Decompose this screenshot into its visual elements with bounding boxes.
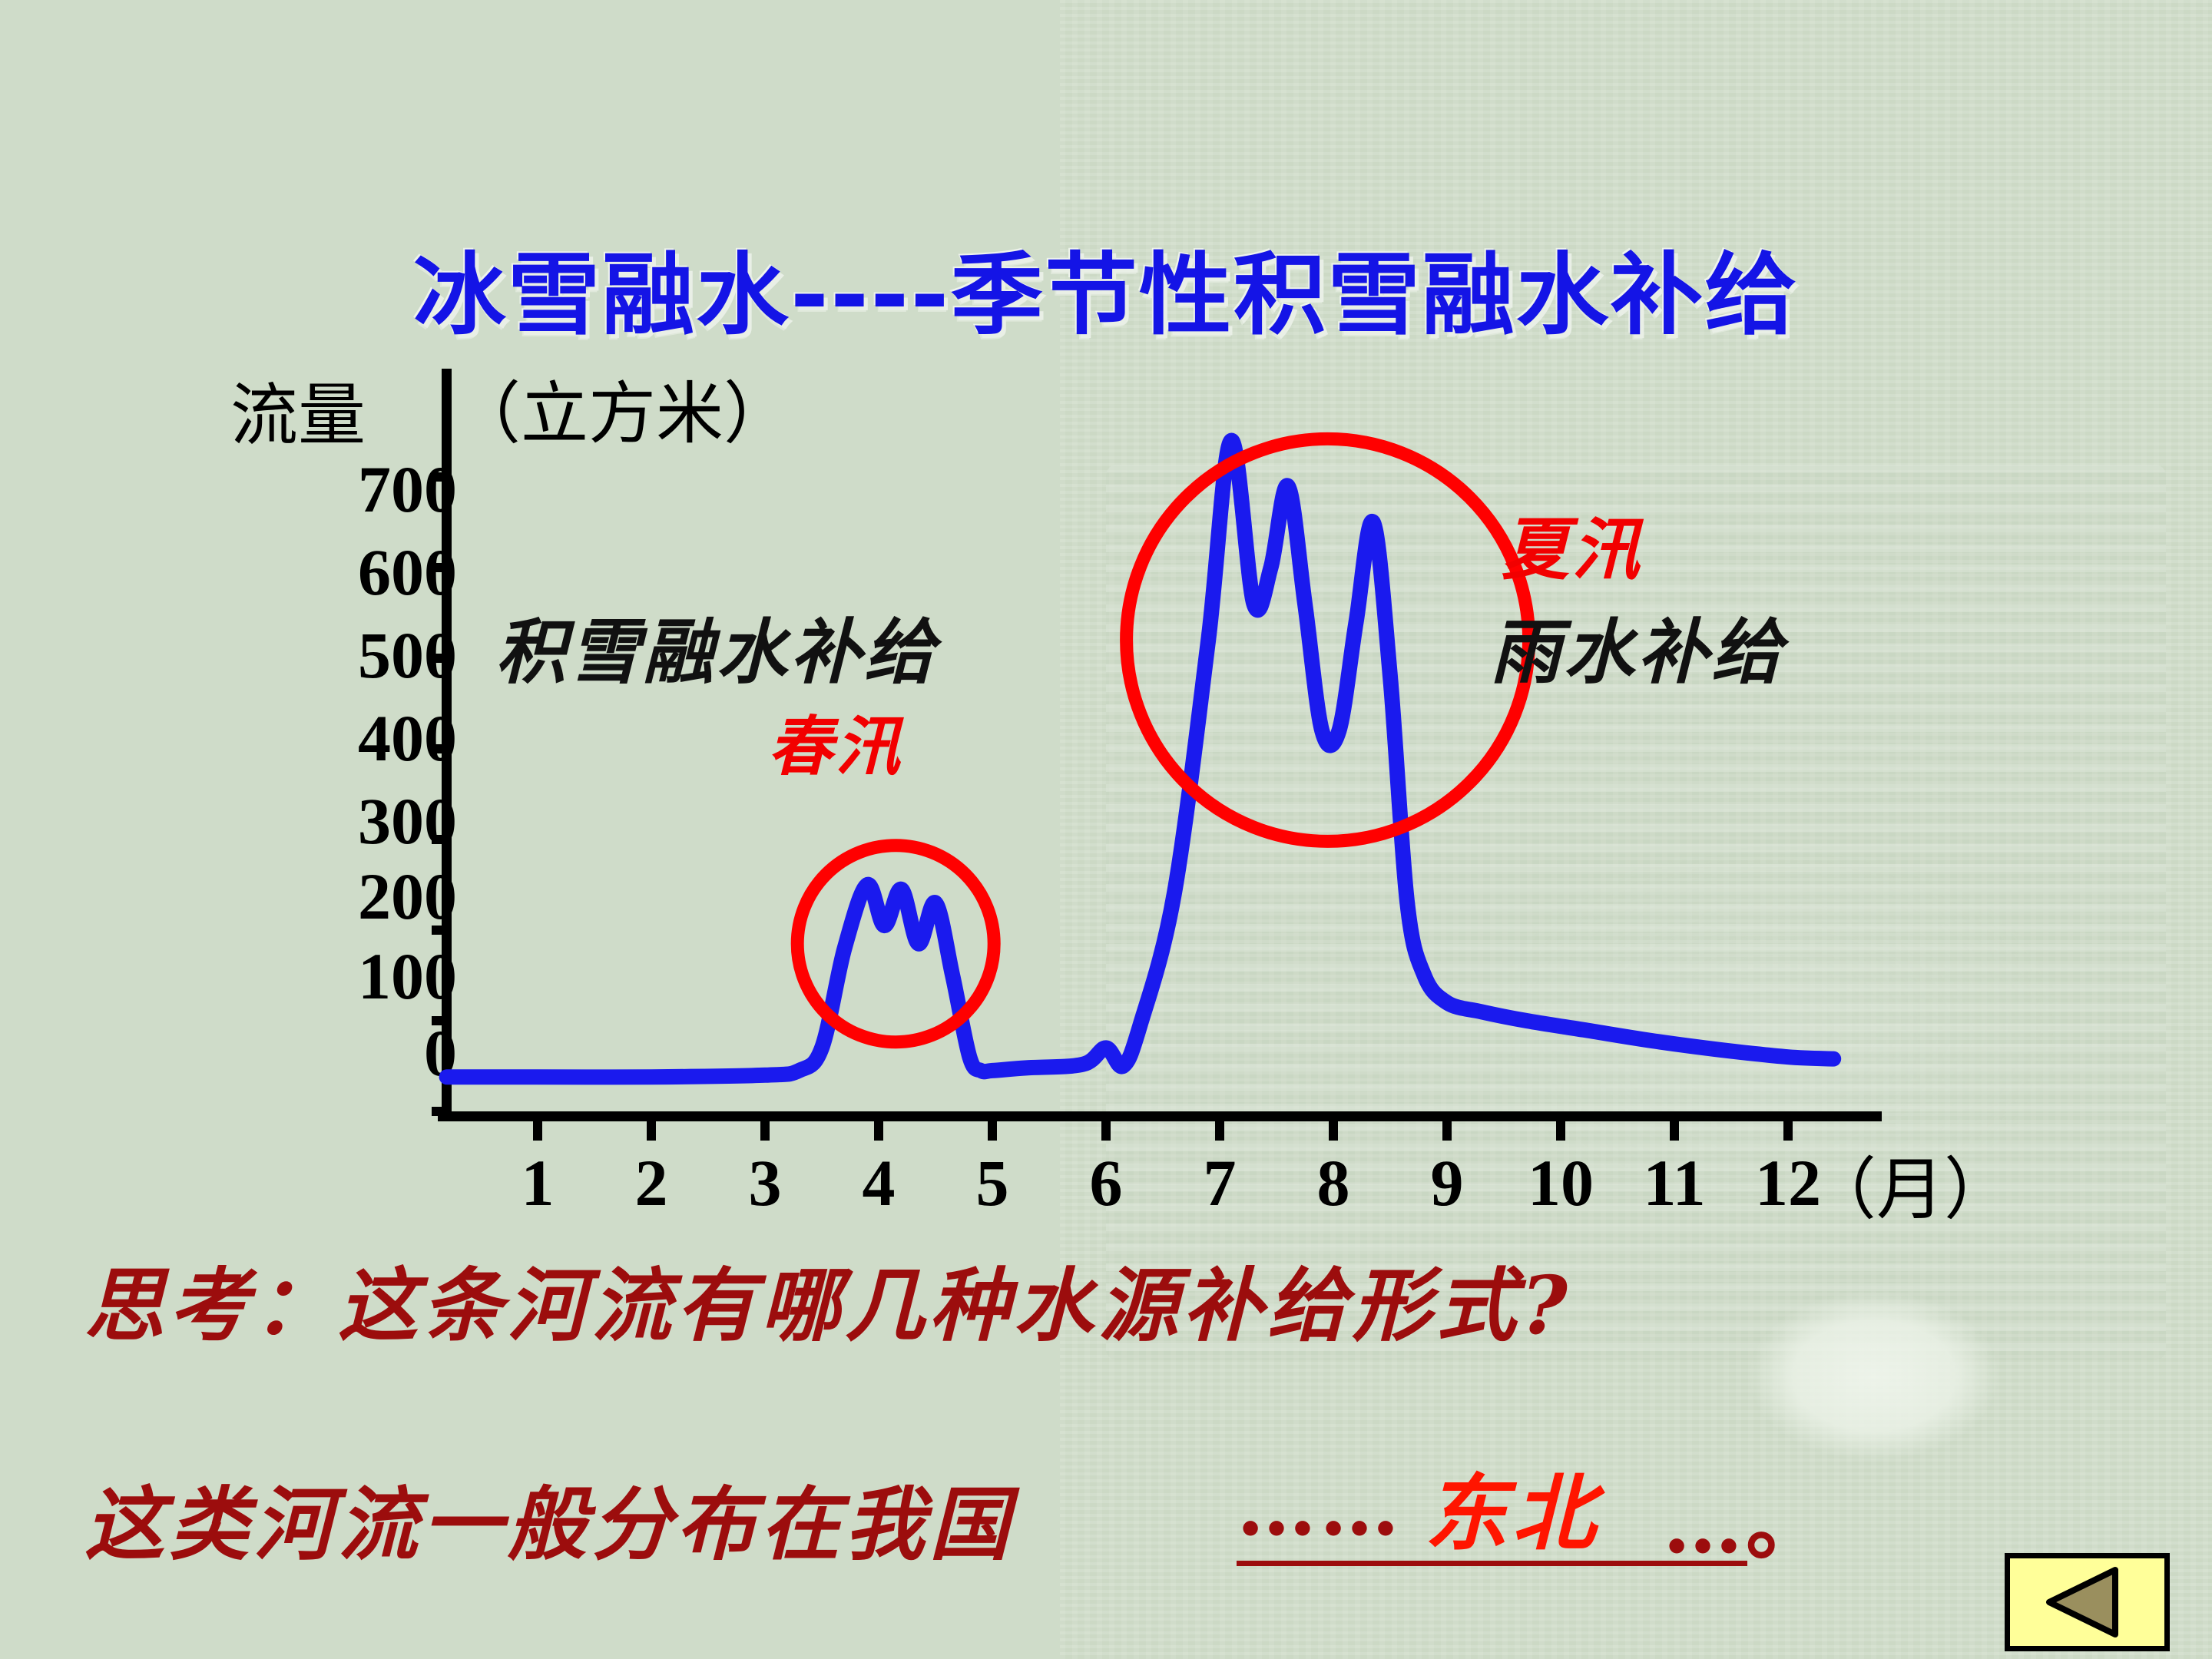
answer-line-tail: …。 — [1663, 1459, 1829, 1575]
x-tick-label-7: 7 — [1174, 1144, 1266, 1221]
y-axis-title: 流量 — [230, 361, 366, 459]
question-line: 思考：这条河流有哪几种水源补给形式? — [84, 1240, 1572, 1356]
y-tick-label-200: 200 — [134, 863, 457, 929]
y-tick-label-0: 0 — [134, 1020, 457, 1086]
x-tick-10 — [1556, 1121, 1565, 1141]
x-tick-label-3: 3 — [719, 1144, 811, 1221]
x-tick-label-6: 6 — [1060, 1144, 1152, 1221]
annotation-rain-supply: 雨水补给 — [1490, 595, 1785, 697]
x-tick-label-1: 1 — [492, 1144, 584, 1221]
answer-line-prefix: 这类河流一般分布在我国 — [84, 1459, 1014, 1575]
x-tick-4 — [874, 1121, 883, 1141]
x-tick-label-2: 2 — [605, 1144, 697, 1221]
x-tick-label-4: 4 — [833, 1144, 925, 1221]
x-axis-unit: （月） — [1809, 1135, 2012, 1233]
y-axis-unit: （立方米） — [453, 359, 791, 457]
y-tick-label-600: 600 — [134, 539, 457, 605]
answer-blank-dots: …… — [1237, 1459, 1402, 1554]
y-tick-label-100: 100 — [134, 943, 457, 1009]
x-tick-label-10: 10 — [1515, 1144, 1607, 1221]
x-tick-9 — [1442, 1121, 1452, 1141]
x-tick-label-12: 12 — [1742, 1144, 1834, 1221]
x-tick-label-8: 8 — [1287, 1144, 1379, 1221]
spring-flood-circle — [797, 846, 994, 1042]
left-triangle-icon — [2041, 1564, 2134, 1641]
y-tick-0 — [432, 1107, 452, 1116]
answer-region-text: 东北 — [1425, 1447, 1600, 1567]
y-tick-label-700: 700 — [134, 456, 457, 522]
x-tick-label-11: 11 — [1628, 1144, 1720, 1221]
y-tick-label-400: 400 — [134, 705, 457, 771]
x-tick-label-5: 5 — [946, 1144, 1038, 1221]
x-tick-7 — [1215, 1121, 1224, 1141]
river-discharge-chart: 700 600 500 400 300 200 100 0 流量 （立方米） （… — [0, 0, 2212, 1198]
x-tick-5 — [988, 1121, 997, 1141]
x-tick-3 — [760, 1121, 770, 1141]
answer-underline — [1237, 1561, 1747, 1566]
x-tick-6 — [1101, 1121, 1111, 1141]
y-tick-label-300: 300 — [134, 788, 457, 854]
x-tick-2 — [647, 1121, 656, 1141]
slide-stage: 冰雪融水----季节性积雪融水补给 700 600 500 400 300 20… — [0, 0, 2212, 1659]
annotation-spring-flood: 春汛 — [768, 695, 903, 788]
x-tick-8 — [1329, 1121, 1338, 1141]
y-tick-label-500: 500 — [134, 622, 457, 688]
x-tick-1 — [533, 1121, 542, 1141]
annotation-snowmelt-supply: 积雪融水补给 — [495, 595, 938, 697]
back-nav-button[interactable] — [2005, 1553, 2170, 1651]
annotation-summer-flood: 夏汛 — [1502, 495, 1643, 593]
x-tick-label-9: 9 — [1401, 1144, 1493, 1221]
x-tick-12 — [1783, 1121, 1793, 1141]
x-tick-11 — [1670, 1121, 1679, 1141]
summer-flood-circle — [1127, 439, 1529, 841]
